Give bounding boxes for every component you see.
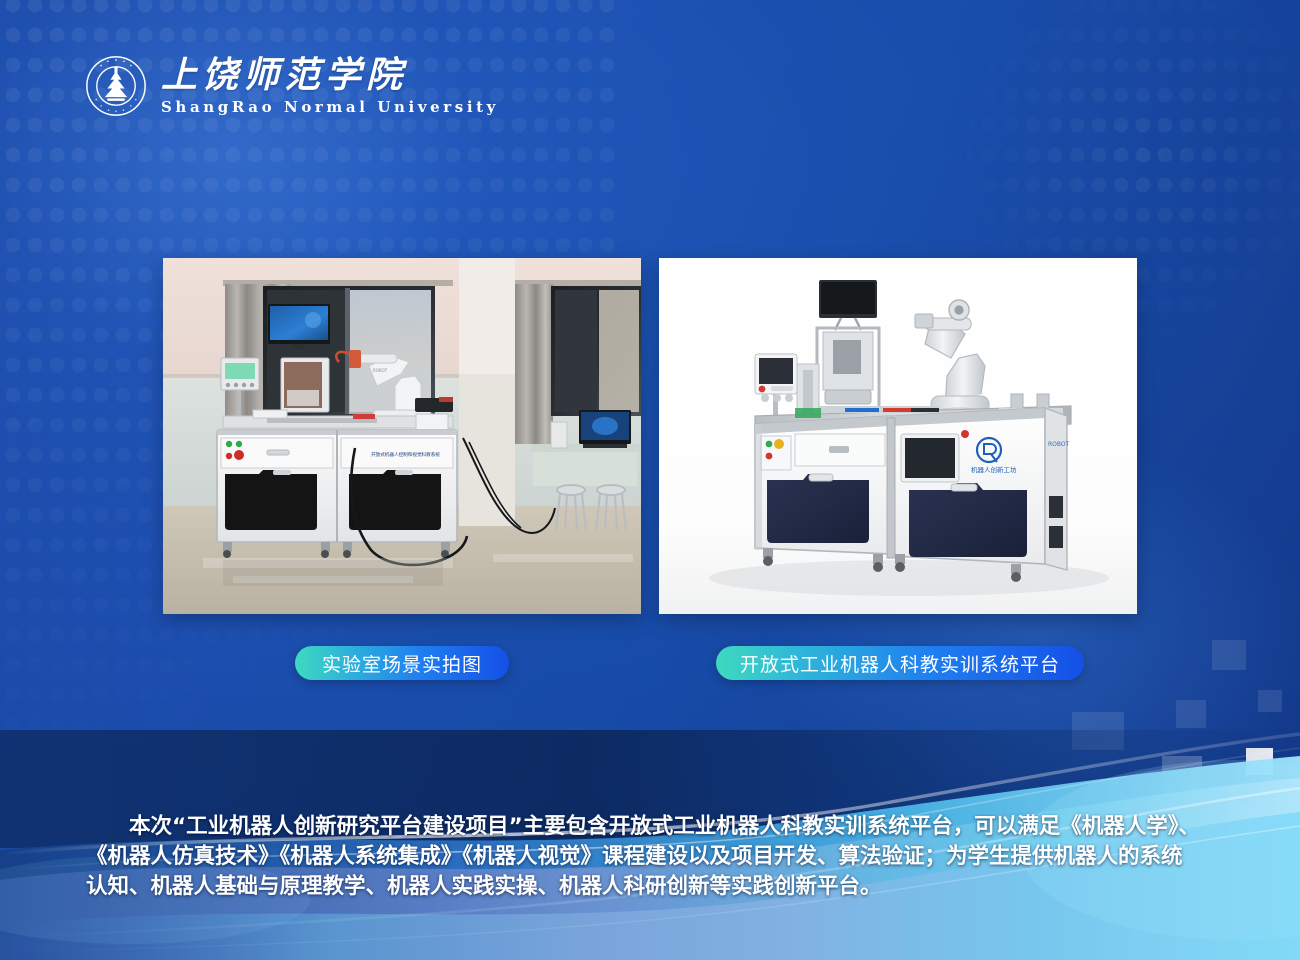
university-logo: 上饶师范学院 ShangRao Normal University xyxy=(85,55,499,117)
gallery-item-lab-photo[interactable]: ROBOT xyxy=(163,258,641,614)
description-paragraph: 本次“工业机器人创新研究平台建设项目”主要包含开放式工业机器人科教实训系统平台，… xyxy=(86,812,1212,902)
caption-pill-lab-photo[interactable]: 实验室场景实拍图 xyxy=(295,646,509,680)
gallery-item-product-render[interactable]: 机器人创新工坊 ROBOT xyxy=(659,258,1137,614)
svg-text:ROBOT: ROBOT xyxy=(373,368,388,373)
product-render-image: 机器人创新工坊 ROBOT xyxy=(659,258,1137,614)
caption-row: 实验室场景实拍图 开放式工业机器人科教实训系统平台 xyxy=(0,646,1300,680)
decor-square xyxy=(1176,700,1206,728)
university-name-en: ShangRao Normal University xyxy=(161,98,499,116)
image-gallery: ROBOT xyxy=(163,258,1137,614)
university-crest-icon xyxy=(85,55,147,117)
lab-photo-image: ROBOT xyxy=(163,258,641,614)
university-name-cn: 上饶师范学院 xyxy=(161,56,499,95)
description-line-3: 认知、机器人基础与原理教学、机器人实践实操、机器人科研创新等实践创新平台。 xyxy=(86,872,1212,902)
decor-square xyxy=(1258,690,1282,712)
svg-text:机器人创新工坊: 机器人创新工坊 xyxy=(971,465,1017,474)
caption-pill-product-render[interactable]: 开放式工业机器人科教实训系统平台 xyxy=(716,646,1084,680)
slide-root: 上饶师范学院 ShangRao Normal University xyxy=(0,0,1300,960)
svg-text:ROBOT: ROBOT xyxy=(1048,441,1070,448)
svg-text:开放式机器人控制和视觉科教系统: 开放式机器人控制和视觉科教系统 xyxy=(371,451,440,458)
description-line-2: 《机器人仿真技术》《机器人系统集成》《机器人视觉》课程建设以及项目开发、算法验证… xyxy=(86,842,1212,872)
description-line-1: 本次“工业机器人创新研究平台建设项目”主要包含开放式工业机器人科教实训系统平台，… xyxy=(86,812,1212,842)
